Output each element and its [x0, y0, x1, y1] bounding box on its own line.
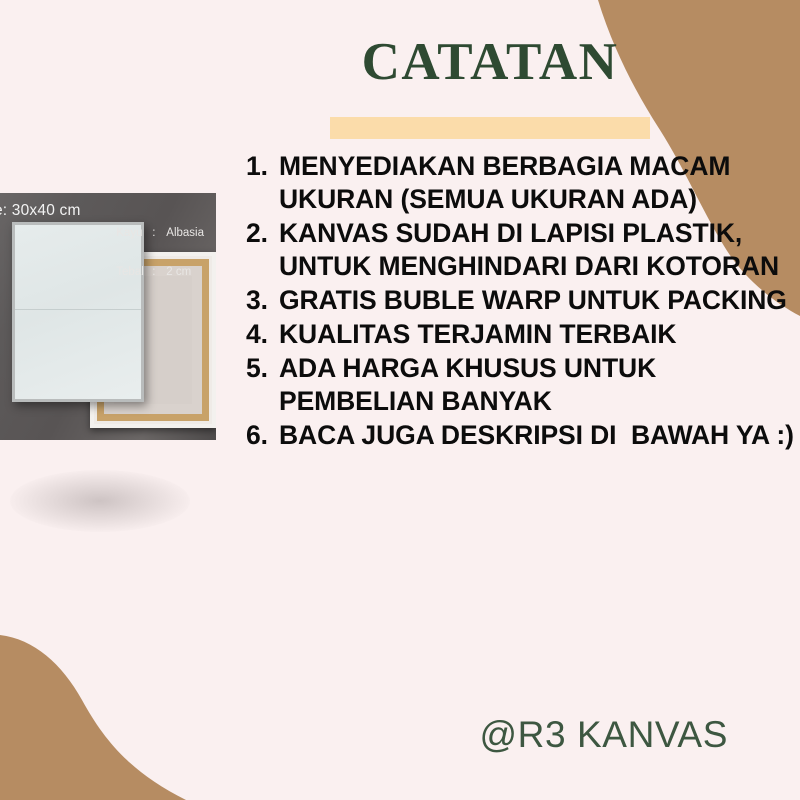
list-item: 5. ADA HARGA KHUSUS UNTUK PEMBELIAN BANY… [246, 352, 798, 418]
page-title-wrapper: CATATAN [330, 36, 650, 89]
spec-value-kayu: Albasia [166, 227, 204, 239]
spec-value-tebal: 2 cm [166, 266, 191, 278]
list-item-text: MENYEDIAKAN BERBAGIA MACAM UKURAN (SEMUA… [279, 150, 798, 216]
list-item-number: 6. [246, 419, 279, 452]
spec-key-kayu: Kayu [116, 227, 152, 240]
notes-list: 1. MENYEDIAKAN BERBAGIA MACAM UKURAN (SE… [246, 150, 798, 453]
page-title: CATATAN [330, 36, 650, 89]
list-item-text: ADA HARGA KHUSUS UNTUK PEMBELIAN BANYAK [279, 352, 798, 418]
list-item: 4. KUALITAS TERJAMIN TERBAIK [246, 318, 798, 351]
title-accent-bar [330, 117, 650, 139]
spec-key-tebal: Tebal [116, 266, 152, 279]
tan-shape-bottom-left [0, 635, 186, 800]
list-item: 2. KANVAS SUDAH DI LAPISI PLASTIK, UNTUK… [246, 217, 798, 283]
spec-separator-kayu: : [152, 227, 166, 240]
list-item: 3. GRATIS BUBLE WARP UNTUK PACKING [246, 284, 798, 317]
list-item-text: BACA JUGA DESKRIPSI DI BAWAH YA :) [279, 419, 798, 452]
spec-row-tebal: Tebal:2 cm [116, 266, 204, 279]
brand-handle: @R3 KANVAS [479, 714, 728, 756]
list-item: 1. MENYEDIAKAN BERBAGIA MACAM UKURAN (SE… [246, 150, 798, 216]
list-item-text: GRATIS BUBLE WARP UNTUK PACKING [279, 284, 798, 317]
photo-spec-list: Kayu:Albasia Tebal:2 cm [116, 201, 204, 305]
list-item-number: 1. [246, 150, 279, 183]
list-item-text: KANVAS SUDAH DI LAPISI PLASTIK, UNTUK ME… [279, 217, 798, 283]
list-item-text: KUALITAS TERJAMIN TERBAIK [279, 318, 798, 351]
photo-drop-shadow [10, 470, 190, 532]
list-item-number: 4. [246, 318, 279, 351]
spec-row-kayu: Kayu:Albasia [116, 227, 204, 240]
canvas-seam-line [15, 309, 141, 310]
list-item-number: 5. [246, 352, 279, 385]
photo-size-label: ze: 30x40 cm [0, 202, 81, 220]
list-item: 6. BACA JUGA DESKRIPSI DI BAWAH YA :) [246, 419, 798, 452]
product-photo-panel: ze: 30x40 cm Kayu:Albasia Tebal:2 cm [0, 193, 216, 440]
list-item-number: 3. [246, 284, 279, 317]
list-item-number: 2. [246, 217, 279, 250]
poster-canvas: ze: 30x40 cm Kayu:Albasia Tebal:2 cm CAT… [0, 0, 800, 800]
spec-separator-tebal: : [152, 266, 166, 279]
